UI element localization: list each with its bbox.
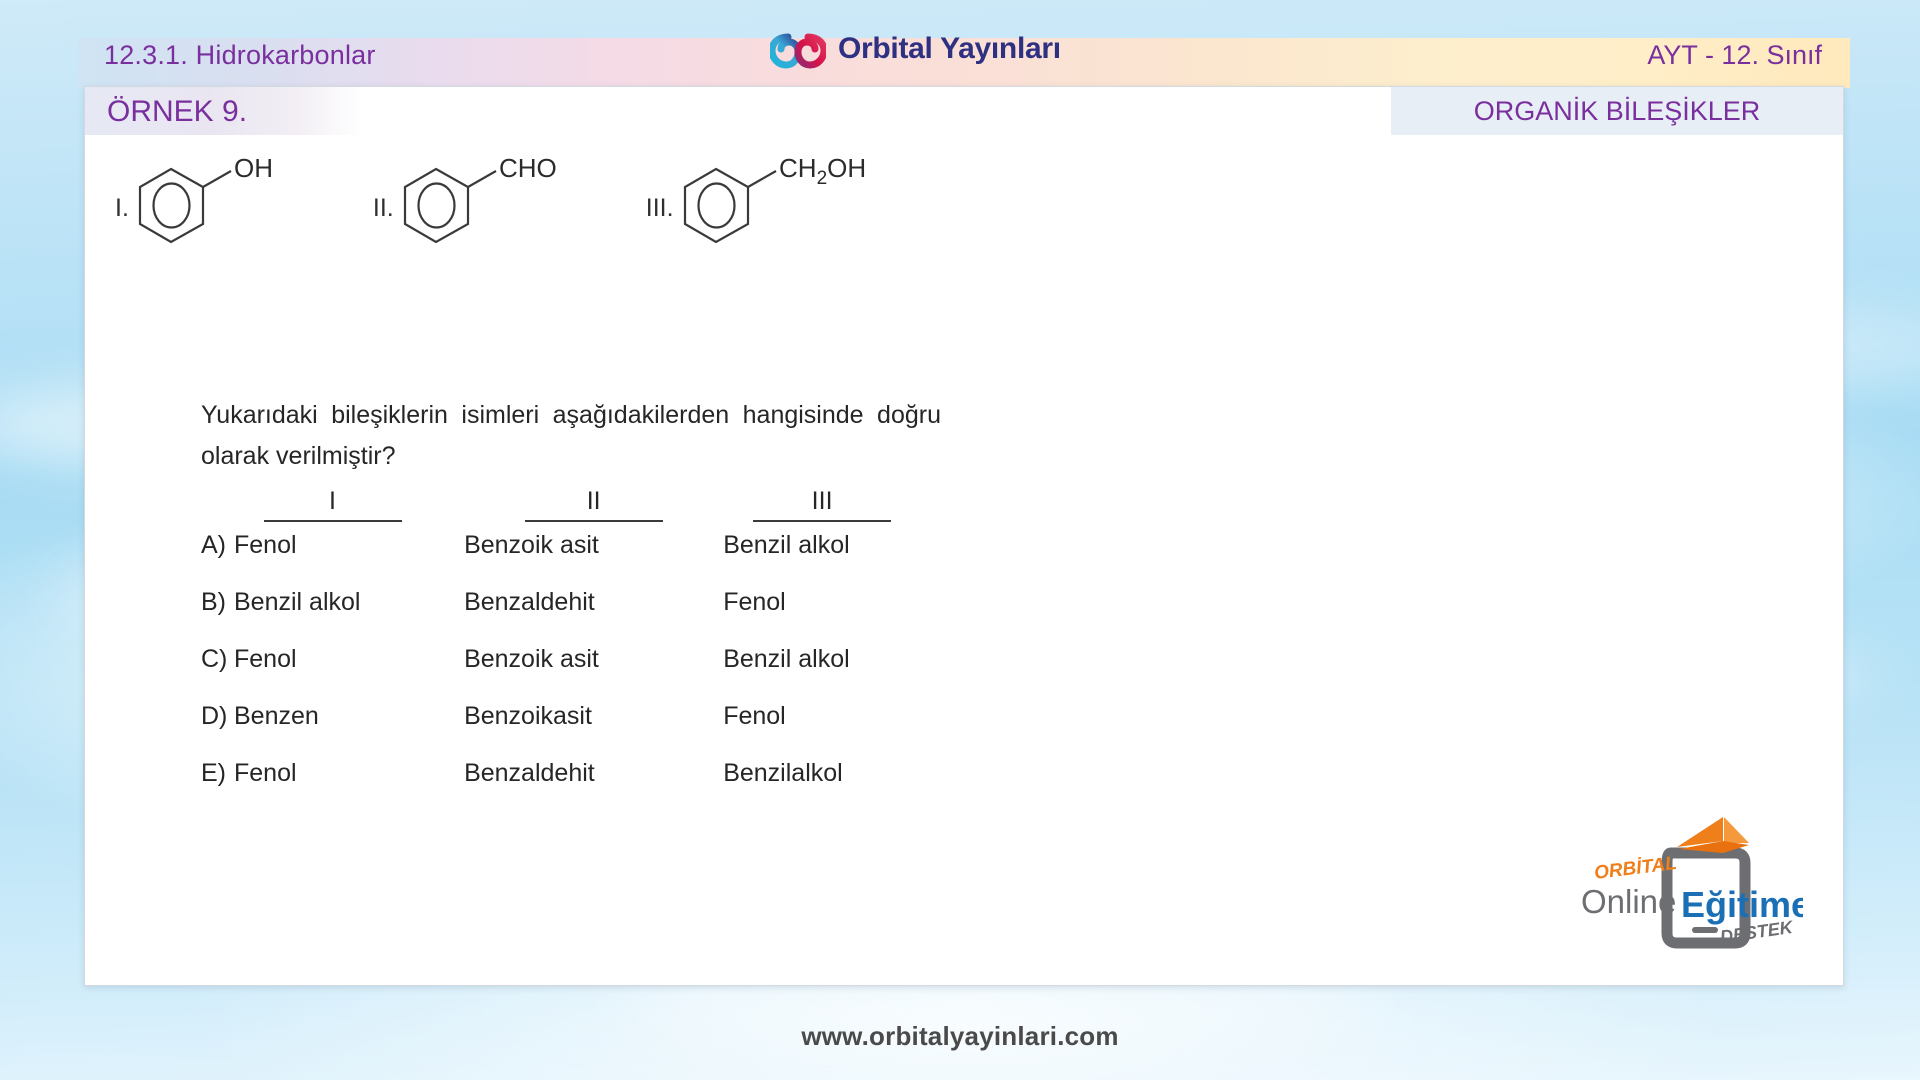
svg-text:OH: OH [234,153,273,183]
option-letter: D) [201,702,234,731]
answer-cell-2: Benzoik asit [464,531,723,560]
footer-website: www.orbitalyayinlari.com [0,1021,1920,1052]
answer-cell-3: Fenol [723,588,921,617]
answer-cell-1: B) Benzil alkol [201,588,464,617]
answer-cell-1: D) Benzen [201,702,464,731]
molecule-row: I. OH II. CHO III. [115,149,900,249]
option-value: Benzen [234,702,319,731]
example-label: ÖRNEK 9. [107,95,247,129]
answer-option-b[interactable]: B) Benzil alkol Benzaldehit Fenol [201,588,921,645]
brand-logo: Orbital Yayınları [770,26,1061,72]
option-letter: C) [201,645,234,674]
answer-cell-2: Benzaldehit [464,588,723,617]
orbital-infinity-logo-icon [770,28,826,70]
slide-root: 12.3.1. Hidrokarbonlar [0,0,1920,1080]
header-topic-code: 12.3.1. Hidrokarbonlar [104,40,376,71]
molecule-numeral: I. [115,194,129,249]
unit-label: ORGANİK BİLEŞİKLER [1474,96,1761,127]
answer-option-e[interactable]: E) Fenol Benzaldehit Benzilalkol [201,759,921,816]
answer-col-header-1: I [201,487,464,531]
answer-option-d[interactable]: D) Benzen Benzoikasit Fenol [201,702,921,759]
molecule-item-3: III. CH2OH [646,149,900,249]
answer-cell-3: Benzil alkol [723,531,921,560]
answer-cell-1: E) Fenol [201,759,464,788]
answer-option-c[interactable]: C) Fenol Benzoik asit Benzil alkol [201,645,921,702]
option-value: Fenol [234,531,297,560]
unit-label-band: ORGANİK BİLEŞİKLER [1391,87,1843,135]
option-value: Benzil alkol [234,588,360,617]
answer-cell-2: Benzoikasit [464,702,723,731]
benzene-ring-icon: CHO [400,149,600,249]
answer-cell-2: Benzoik asit [464,645,723,674]
molecule-numeral: II. [373,194,394,249]
answer-cell-3: Benzilalkol [723,759,921,788]
answer-option-a[interactable]: A) Fenol Benzoik asit Benzil alkol [201,531,921,588]
answer-table: I II III A) Fenol Benzoik asit Benzil al… [201,487,921,816]
benzene-ring-icon: OH [135,149,315,249]
answer-cell-3: Fenol [723,702,921,731]
answer-cell-1: A) Fenol [201,531,464,560]
answer-col-header-2: II [464,487,723,531]
svg-text:CH2OH: CH2OH [779,153,866,189]
option-value: Fenol [234,759,297,788]
answer-table-header-row: I II III [201,487,921,531]
svg-text:CHO: CHO [499,153,557,183]
answer-col-header-3: III [723,487,921,531]
question-text: Yukarıdaki bileşiklerin isimleri aşağıda… [201,395,941,477]
molecule-item-2: II. CHO [373,149,600,249]
answer-cell-1: C) Fenol [201,645,464,674]
answer-cell-2: Benzaldehit [464,759,723,788]
option-value: Fenol [234,645,297,674]
option-letter: B) [201,588,234,617]
svg-text:Online: Online [1581,883,1676,920]
answer-cell-3: Benzil alkol [723,645,921,674]
online-education-support-logo: ORBİTAL Online Eğitime DESTEK [1573,801,1803,971]
benzene-ring-icon: CH2OH [680,149,900,249]
tablet-with-book-icon: ORBİTAL Online Eğitime DESTEK [1573,801,1803,971]
content-card: ÖRNEK 9. ORGANİK BİLEŞİKLER I. OH II. [84,86,1844,986]
molecule-numeral: III. [646,194,674,249]
option-letter: A) [201,531,234,560]
option-letter: E) [201,759,234,788]
molecule-item-1: I. OH [115,149,315,249]
brand-name-text: Orbital Yayınları [838,32,1061,66]
header-grade-label: AYT - 12. Sınıf [1647,40,1822,71]
